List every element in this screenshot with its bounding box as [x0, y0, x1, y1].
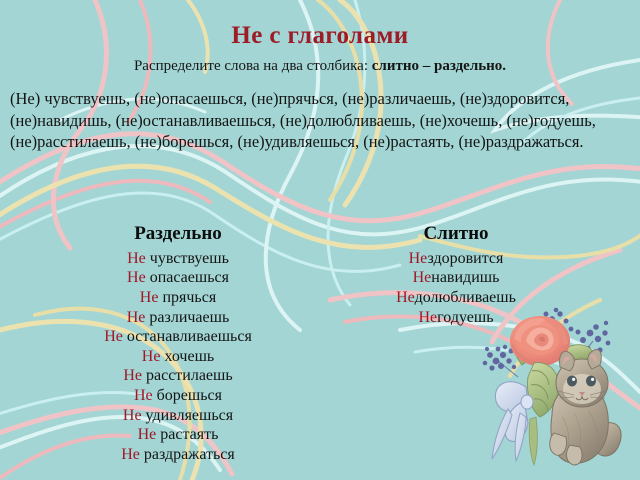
column-together-heading: Слитно — [330, 222, 582, 246]
verb-stem: останавливаешься — [123, 328, 252, 345]
verb-stem: прячься — [158, 289, 216, 306]
verb-stem: расстилаешь — [142, 367, 233, 384]
ne-prefix: Не — [123, 367, 142, 384]
blue-ribbon-bow — [492, 382, 533, 461]
ne-prefix: Не — [127, 309, 146, 326]
verb-stem: хочешь — [160, 348, 214, 365]
word-bank-paragraph: (Не) чувствуешь, (не)опасаешься, (не)пря… — [10, 88, 622, 153]
ne-prefix: Не — [396, 289, 414, 306]
ne-prefix: Не — [127, 269, 146, 286]
verb-stem: удивляешься — [142, 407, 234, 424]
ne-prefix: Не — [418, 309, 437, 326]
verb-stem: навидишь — [431, 269, 499, 286]
ne-prefix: Не — [138, 426, 157, 443]
ne-prefix: Не — [127, 250, 146, 267]
slide-canvas: .rb { fill:none; stroke-linecap:round; }… — [0, 0, 640, 480]
subtitle-emphasis: слитно – раздельно. — [372, 58, 506, 74]
verb-stem: долюбливаешь — [415, 289, 516, 306]
title-block: Не с глаголами Распределите слова на два… — [0, 22, 640, 75]
word-item: Не расстилаешь — [26, 366, 330, 386]
ne-prefix: Не — [140, 289, 159, 306]
subtitle: Распределите слова на два столбика: слит… — [0, 57, 640, 75]
verb-stem: растаять — [156, 426, 218, 443]
ne-prefix: Не — [134, 387, 153, 404]
verb-stem: различаешь — [145, 309, 229, 326]
word-item: Не растаять — [26, 425, 330, 445]
word-item: Не различаешь — [26, 308, 330, 328]
word-item: Не прячься — [26, 288, 330, 308]
word-item: Не борешься — [26, 386, 330, 406]
kitten — [550, 349, 621, 465]
verb-stem: чувствуешь — [146, 250, 229, 267]
verb-stem: борешься — [153, 387, 222, 404]
verb-stem: опасаешься — [146, 269, 229, 286]
word-item: Не раздражаться — [26, 445, 330, 465]
verb-stem: здоровится — [427, 250, 503, 267]
word-item: Не хочешь — [26, 347, 330, 367]
word-item: Не опасаешься — [26, 268, 330, 288]
word-item: Не удивляешься — [26, 406, 330, 426]
word-item: Не чувствуешь — [26, 249, 330, 269]
word-item: Ненавидишь — [330, 268, 582, 288]
word-item: Нездоровится — [330, 249, 582, 269]
ne-prefix: Не — [409, 250, 428, 267]
column-separate-heading: Раздельно — [26, 222, 330, 246]
subtitle-lead: Распределите слова на два столбика: — [134, 58, 372, 74]
kitten-with-rose-bouquet-illustration — [478, 305, 634, 477]
ne-prefix: Не — [413, 269, 432, 286]
ne-prefix: Не — [104, 328, 123, 345]
ne-prefix: Не — [121, 446, 140, 463]
ne-prefix: Не — [142, 348, 161, 365]
ne-prefix: Не — [123, 407, 142, 424]
column-separate: Раздельно Не чувствуешьНе опасаешьсяНе п… — [0, 222, 330, 464]
word-item: Не останавливаешься — [26, 327, 330, 347]
verb-stem: раздражаться — [140, 446, 235, 463]
column-separate-list: Не чувствуешьНе опасаешьсяНе прячьсяНе р… — [26, 249, 330, 465]
page-title: Не с глаголами — [0, 22, 640, 50]
